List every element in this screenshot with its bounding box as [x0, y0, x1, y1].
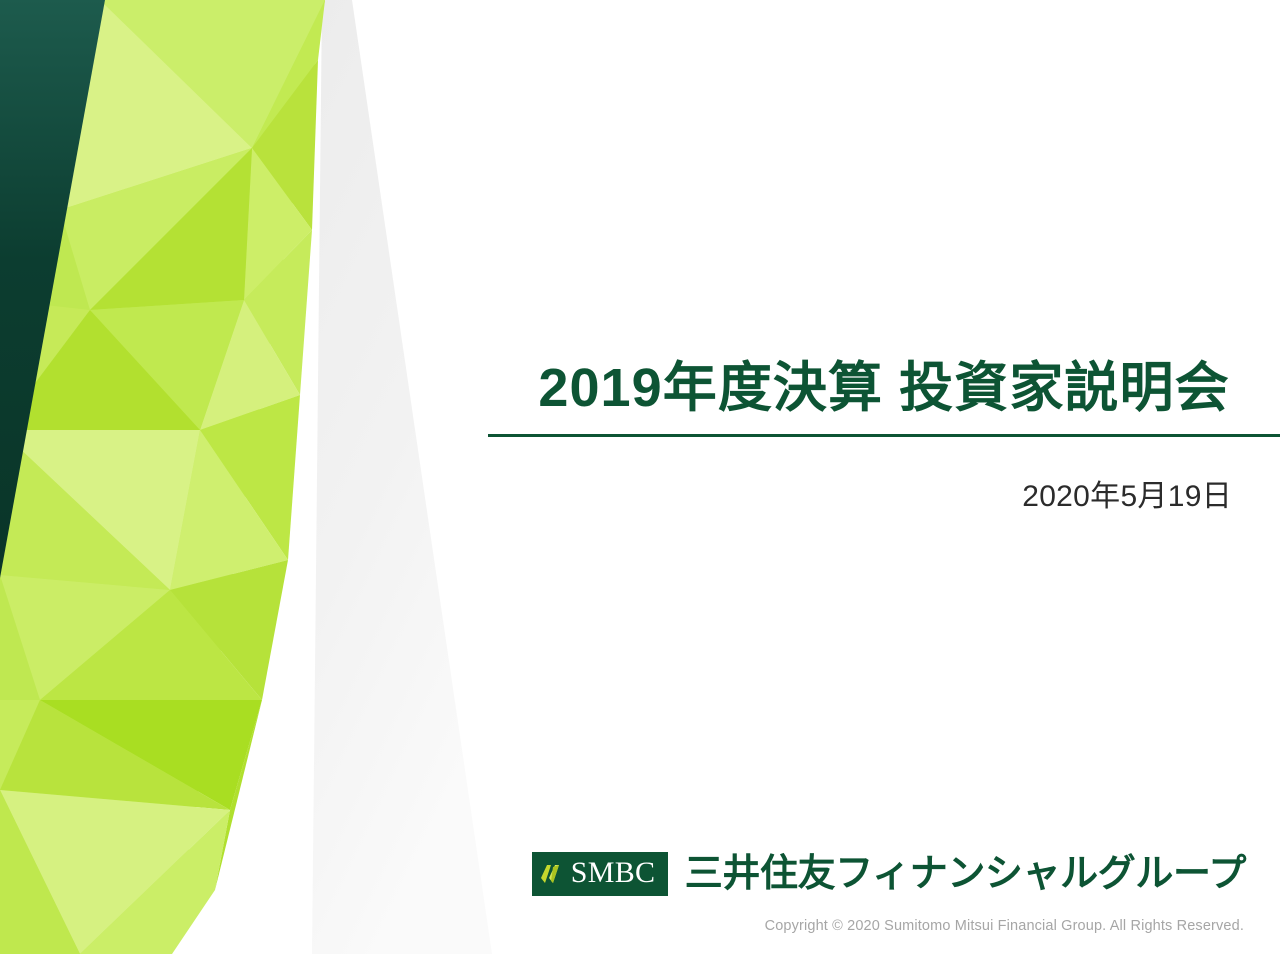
lime-polygon-band — [0, 0, 325, 954]
brand-name-japanese: 三井住友フィナンシャルグループ — [685, 855, 1246, 893]
decorative-polygon-graphic — [0, 0, 560, 954]
smbc-logo: SMBC — [532, 852, 668, 896]
copyright-notice: Copyright © 2020 Sumitomo Mitsui Financi… — [765, 918, 1244, 934]
gray-band-shape — [312, 0, 492, 954]
brand-footer: SMBC 三井住友フィナンシャルグループ — [532, 852, 1246, 896]
presentation-date: 2020年5月19日 — [488, 437, 1280, 515]
smbc-wordmark: SMBC — [566, 858, 656, 890]
page-title: 2019年度決算 投資家説明会 — [488, 358, 1280, 418]
dark-green-wedge — [0, 0, 105, 578]
smbc-leaf-mark — [536, 859, 566, 889]
presentation-slide: 2019年度決算 投資家説明会 2020年5月19日 SMBC 三井住友フィナン… — [0, 0, 1280, 954]
title-block: 2019年度決算 投資家説明会 2020年5月19日 — [488, 358, 1280, 515]
